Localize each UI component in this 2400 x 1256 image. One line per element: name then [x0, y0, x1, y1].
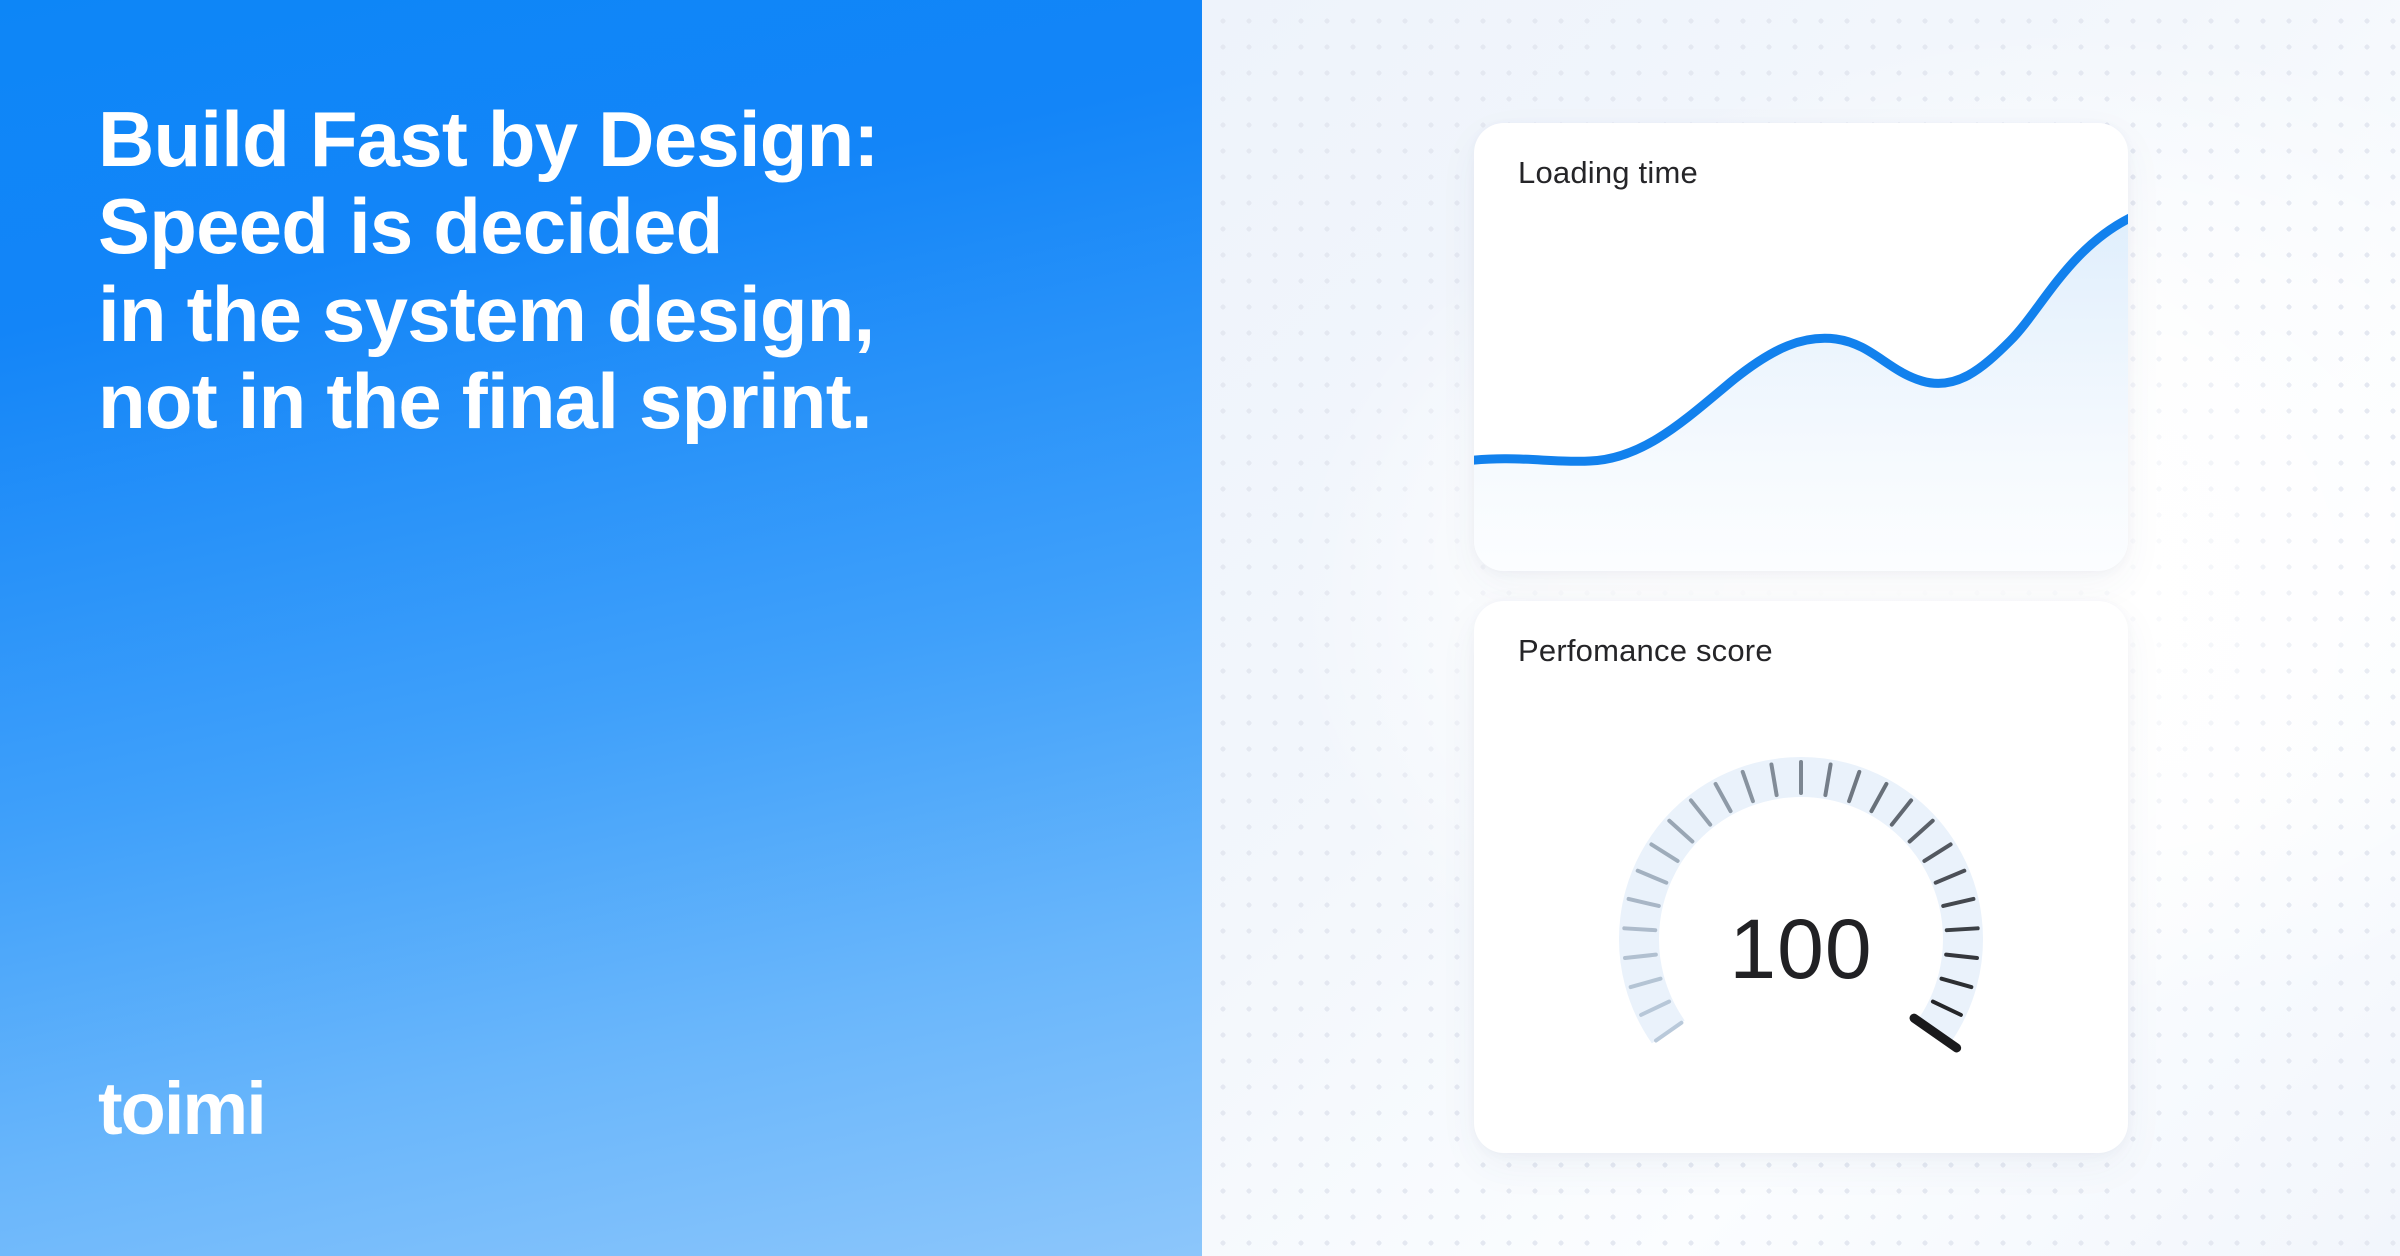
performance-score-card: Perfomance score 100 [1474, 601, 2128, 1153]
brand-logo: toimi [98, 1066, 265, 1151]
loading-time-card: Loading time [1474, 123, 2128, 571]
performance-gauge: 100 [1474, 719, 2128, 1139]
performance-score-card-title: Perfomance score [1518, 633, 1773, 669]
gauge-value-label: 100 [1591, 901, 2011, 998]
poster-canvas: Build Fast by Design: Speed is decided i… [0, 0, 2400, 1256]
page-headline: Build Fast by Design: Speed is decided i… [98, 96, 1118, 445]
left-brand-panel: Build Fast by Design: Speed is decided i… [0, 0, 1202, 1256]
chart-area-fill [1474, 215, 2128, 571]
loading-time-area-chart [1474, 123, 2128, 571]
right-visual-panel: Loading time Perfomance score [1202, 0, 2400, 1256]
